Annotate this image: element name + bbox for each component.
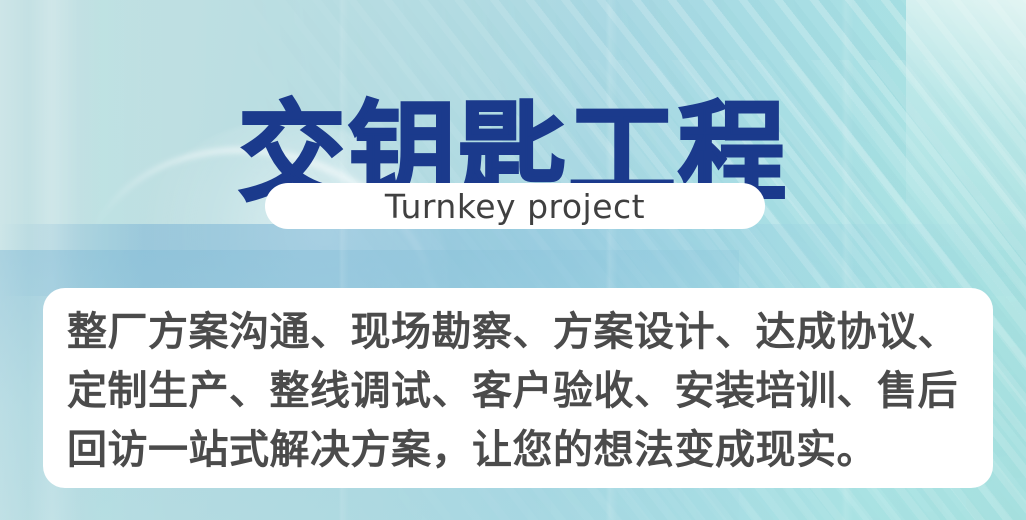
description-line-1: 整厂方案沟通、现场勘察、方案设计、达成协议、 (61, 303, 975, 362)
subtitle-pill: Turnkey project (265, 183, 765, 229)
turnkey-project-banner: 交钥匙工程 Turnkey project 整厂方案沟通、现场勘察、方案设计、达… (0, 0, 1026, 520)
subtitle-text: Turnkey project (385, 190, 645, 223)
description-card: 整厂方案沟通、现场勘察、方案设计、达成协议、 定制生产、整线调试、客户验收、安装… (43, 288, 993, 488)
description-line-3: 回访一站式解决方案，让您的想法变成现实。 (61, 421, 975, 480)
banner-content: 交钥匙工程 Turnkey project 整厂方案沟通、现场勘察、方案设计、达… (0, 0, 1026, 520)
description-line-2: 定制生产、整线调试、客户验收、安装培训、售后 (61, 362, 975, 421)
